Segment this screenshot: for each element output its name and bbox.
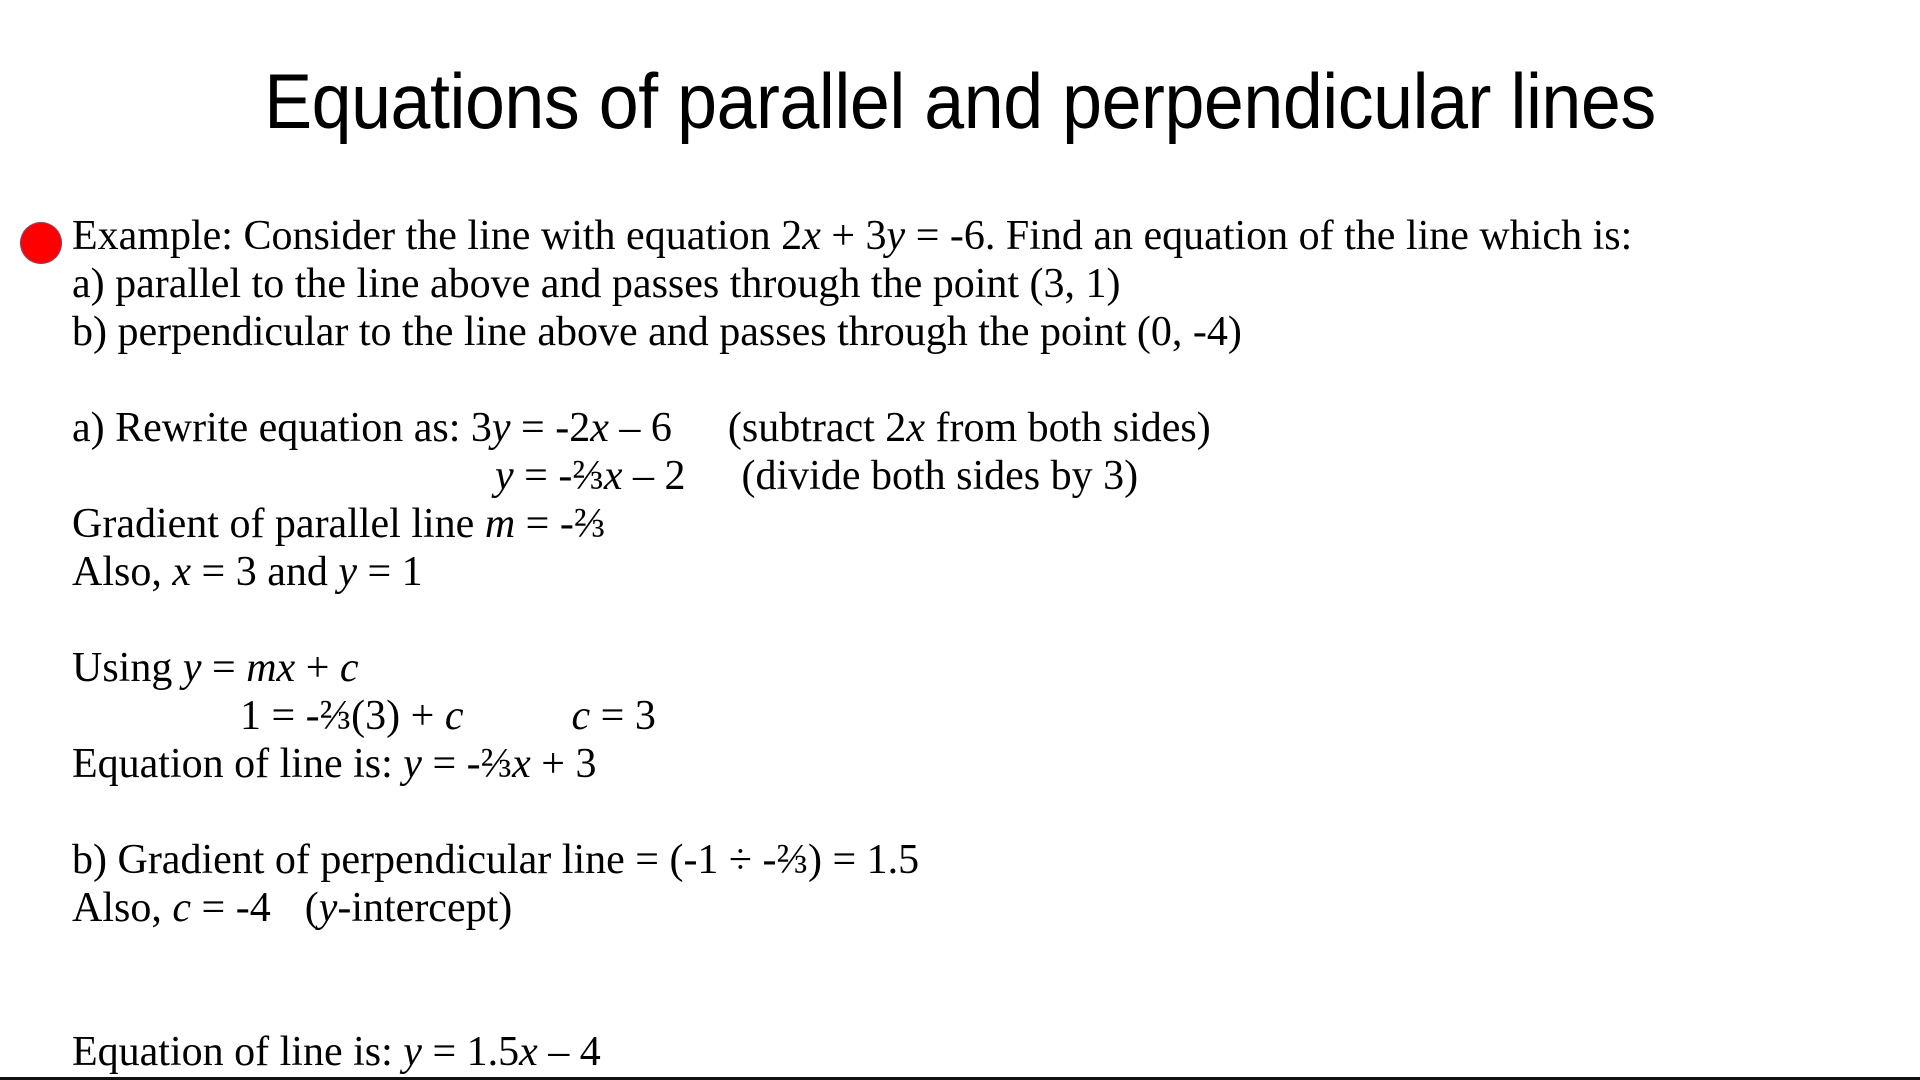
using-plus: + [295,645,340,691]
gradient-parallel-var-m: m [485,501,515,547]
red-circle-bullet-icon [20,222,62,264]
page-title: Equations of parallel and perpendicular … [77,62,1843,140]
intro-var-x: x [802,213,821,259]
also-c-var-c: c [172,885,191,931]
rewrite-note-var: x [906,405,925,451]
equation-b-tail: – 4 [538,1029,601,1075]
using-var-mx: mx [246,645,295,691]
also-xy-var-x: x [172,549,191,595]
divide-line: y = -⅔x – 2(divide both sides by 3) [0,452,1920,500]
also-xy-line: Also, x = 3 and y = 1 [0,548,1920,596]
bullet-paragraph: Example: Consider the line with equation… [0,212,1920,356]
equation-a-var-x: x [512,741,531,787]
also-xy-lead: Also, [72,549,172,595]
also-xy-mid: = 3 and [191,549,338,595]
using-var-c: c [340,645,359,691]
gradient-parallel-lead: Gradient of parallel line [72,501,485,547]
divide-note: (divide both sides by 3) [742,453,1139,499]
spacer-4 [0,932,1920,980]
also-c-note-open: ( [305,885,319,931]
rewrite-var-x: x [590,405,609,451]
rewrite-tail: – 6 [609,405,672,451]
equation-b-line: Equation of line is: y = 1.5x – 4 [0,1028,1920,1076]
using-mid: = [202,645,247,691]
equation-a-lead: Equation of line is: [72,741,403,787]
rewrite-var-y: y [492,405,511,451]
divide-var-y: y [495,453,514,499]
gradient-parallel-tail: = -⅔ [515,501,605,547]
part-b-statement: b) perpendicular to the line above and p… [72,308,1920,356]
also-xy-var-y: y [338,549,357,595]
equation-a-tail: + 3 [531,741,597,787]
spacer-1 [0,356,1920,404]
substitute-lead: 1 = -⅔(3) + [240,693,445,739]
divide-mid: = -⅔ [514,453,604,499]
intro-suffix: = -6. Find an equation of the line which… [905,213,1632,259]
also-c-line: Also, c = -4(y-intercept) [0,884,1920,932]
substitute-result-tail: = 3 [590,693,656,739]
gradient-perpendicular-line: b) Gradient of perpendicular line = (-1 … [0,836,1920,884]
slide-canvas: Equations of parallel and perpendicular … [0,0,1920,1080]
rewrite-note-lead: (subtract 2 [728,405,906,451]
equation-a-line: Equation of line is: y = -⅔x + 3 [0,740,1920,788]
using-var-y: y [183,645,202,691]
intro-prefix: Example: Consider the line with equation… [72,213,802,259]
also-xy-tail: = 1 [357,549,423,595]
equation-b-var-x: x [519,1029,538,1075]
equation-b-var-y: y [403,1029,422,1075]
equation-a-var-y: y [403,741,422,787]
also-c-mid: = -4 [191,885,271,931]
using-lead: Using [72,645,183,691]
rewrite-lead: a) Rewrite equation as: 3 [72,405,492,451]
divide-var-x: x [604,453,623,499]
equation-b-lead: Equation of line is: [72,1029,403,1075]
also-c-note-tail: -intercept) [337,885,512,931]
spacer-3 [0,788,1920,836]
rewrite-mid: = -2 [511,405,591,451]
rewrite-note-tail: from both sides) [925,405,1211,451]
divide-tail: – 2 [623,453,686,499]
also-c-note-var: y [319,885,338,931]
also-c-lead: Also, [72,885,172,931]
substitute-var-c: c [445,693,464,739]
spacer-2 [0,596,1920,644]
intro-var-y: y [887,213,906,259]
slide-body: Example: Consider the line with equation… [0,212,1920,1032]
intro-line: Example: Consider the line with equation… [72,212,1920,260]
part-a-statement: a) parallel to the line above and passes… [72,260,1920,308]
substitute-result-var: c [572,693,591,739]
substitute-line: 1 = -⅔(3) + cc = 3 [0,692,1920,740]
equation-b-mid: = 1.5 [422,1029,519,1075]
title-block: Equations of parallel and perpendicular … [0,62,1920,140]
gradient-parallel-line: Gradient of parallel line m = -⅔ [0,500,1920,548]
spacer-5 [0,980,1920,1028]
equation-a-mid: = -⅔ [422,741,512,787]
using-line: Using y = mx + c [0,644,1920,692]
rewrite-line: a) Rewrite equation as: 3y = -2x – 6(sub… [0,404,1920,452]
intro-mid: + 3 [821,213,887,259]
